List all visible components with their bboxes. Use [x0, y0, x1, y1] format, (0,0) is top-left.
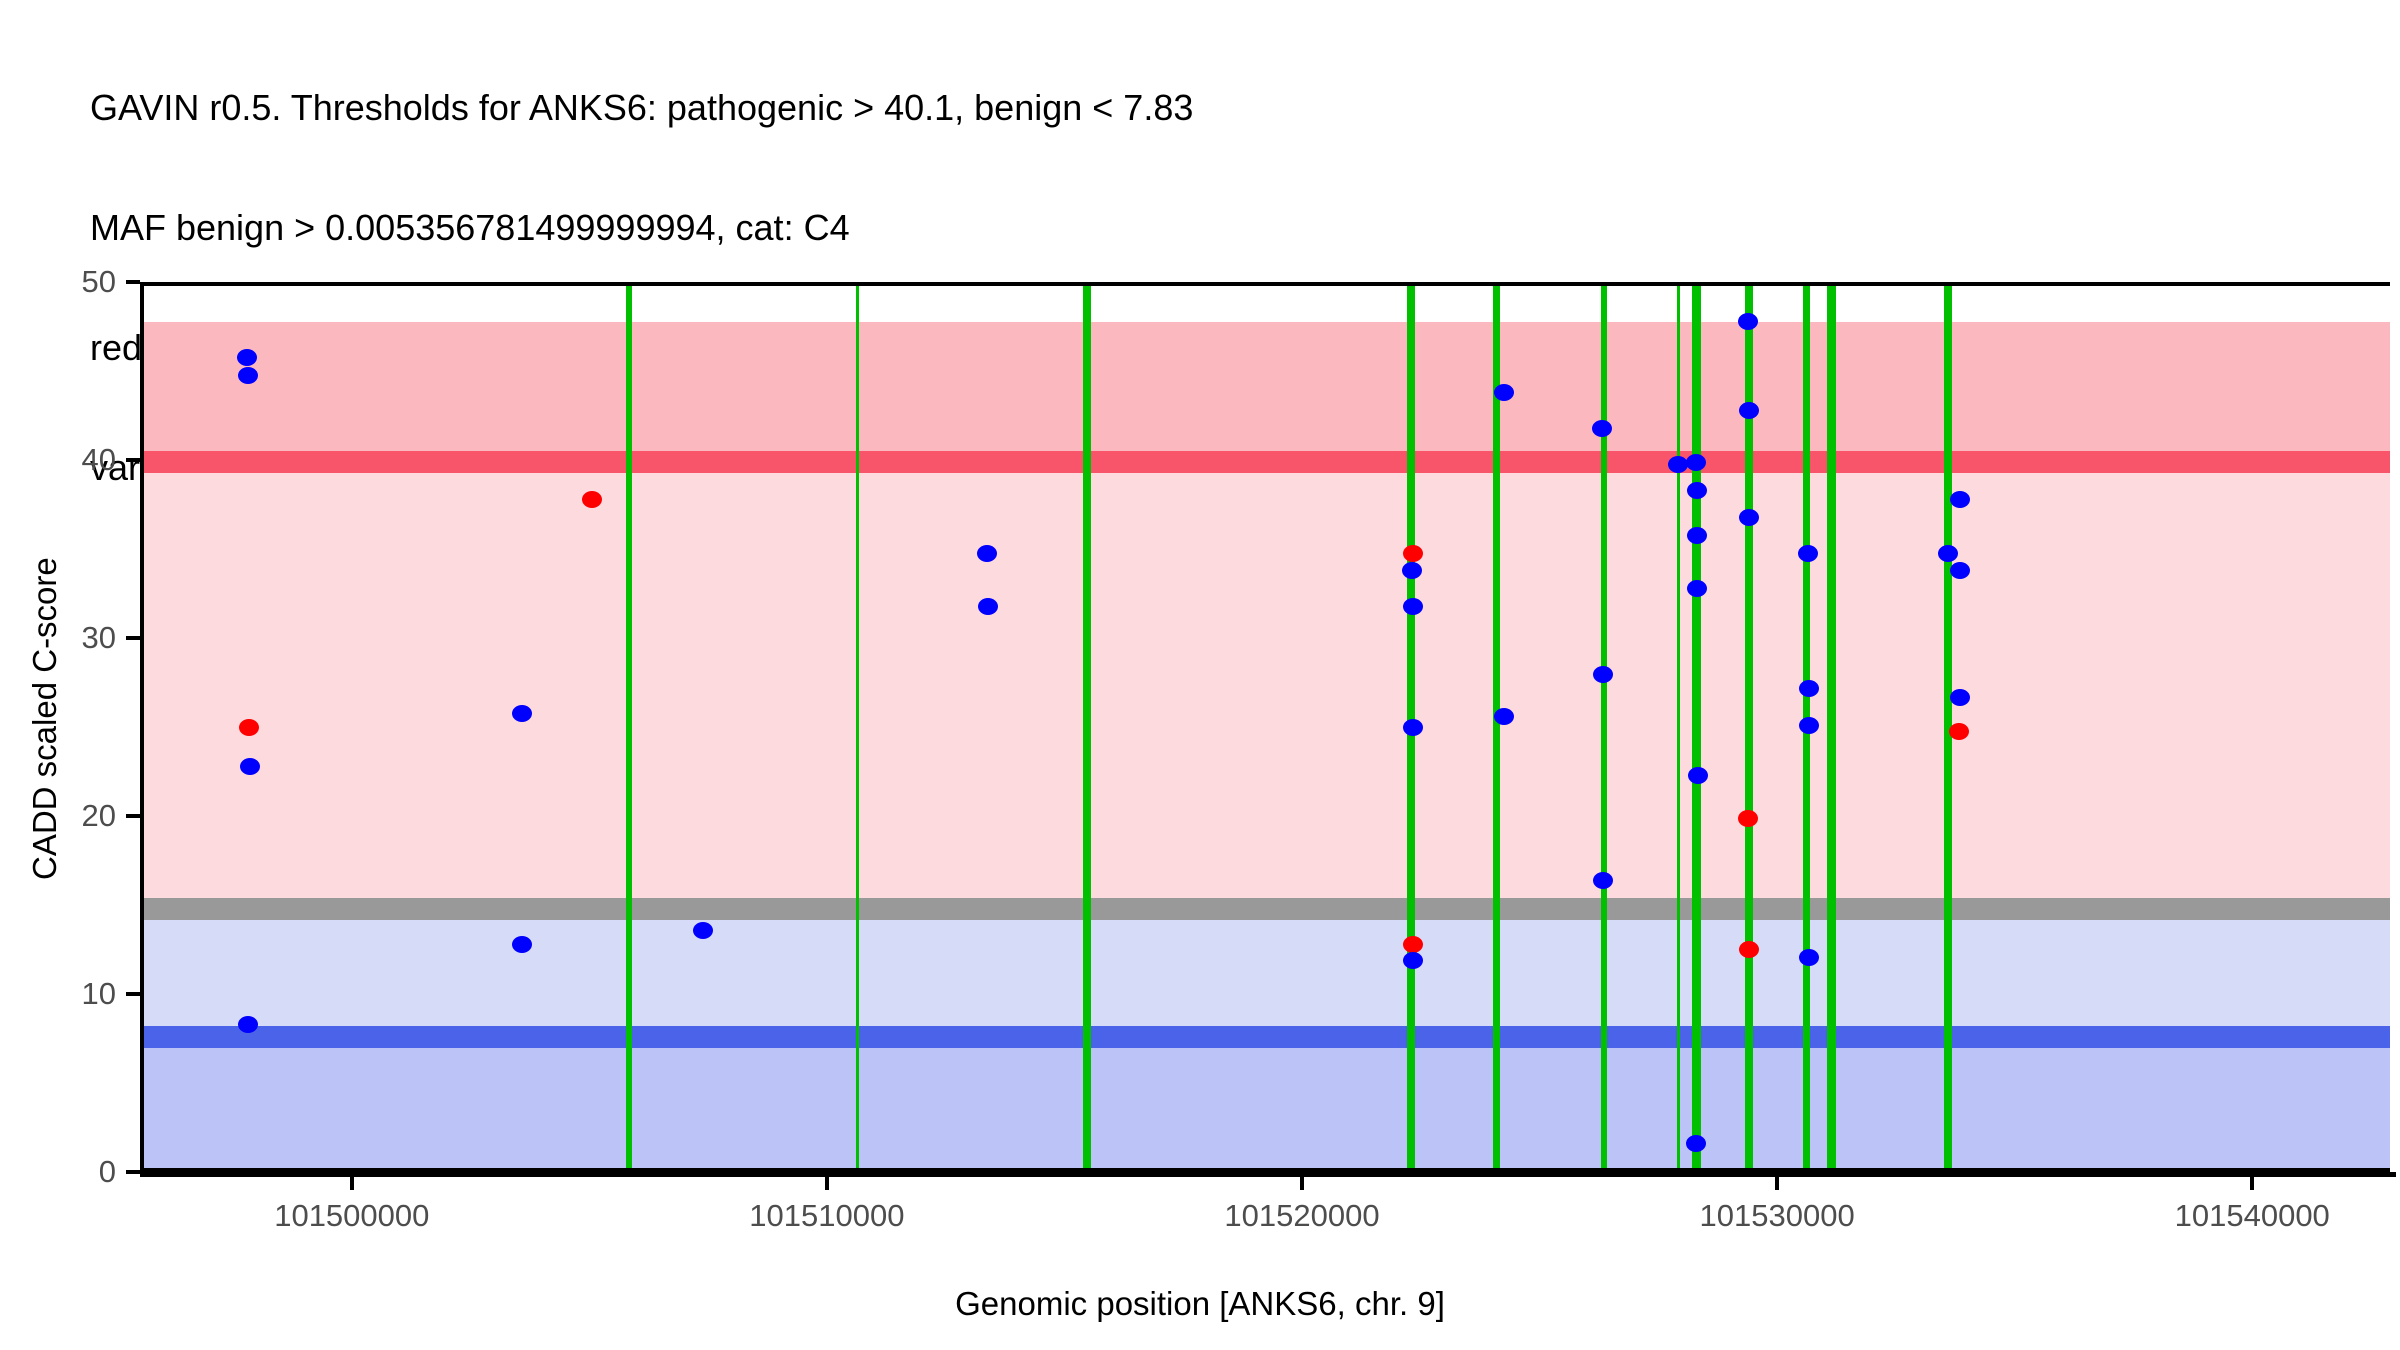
x-tick-mark: [825, 1176, 829, 1190]
x-tick-mark: [2250, 1176, 2254, 1190]
chart-root: GAVIN r0.5. Thresholds for ANKS6: pathog…: [0, 0, 2400, 1350]
x-tick-mark: [1300, 1176, 1304, 1190]
x-tick-label: 101540000: [2175, 1198, 2330, 1234]
x-axis-label: Genomic position [ANKS6, chr. 9]: [0, 1285, 2400, 1323]
x-tick-mark: [1775, 1176, 1779, 1190]
x-tick-label: 101530000: [1700, 1198, 1855, 1234]
x-tick-label: 101510000: [749, 1198, 904, 1234]
x-axis-ticks: 1015000001015100001015200001015300001015…: [0, 0, 2400, 1350]
x-tick-label: 101520000: [1224, 1198, 1379, 1234]
x-tick-label: 101500000: [274, 1198, 429, 1234]
x-tick-mark: [350, 1176, 354, 1190]
